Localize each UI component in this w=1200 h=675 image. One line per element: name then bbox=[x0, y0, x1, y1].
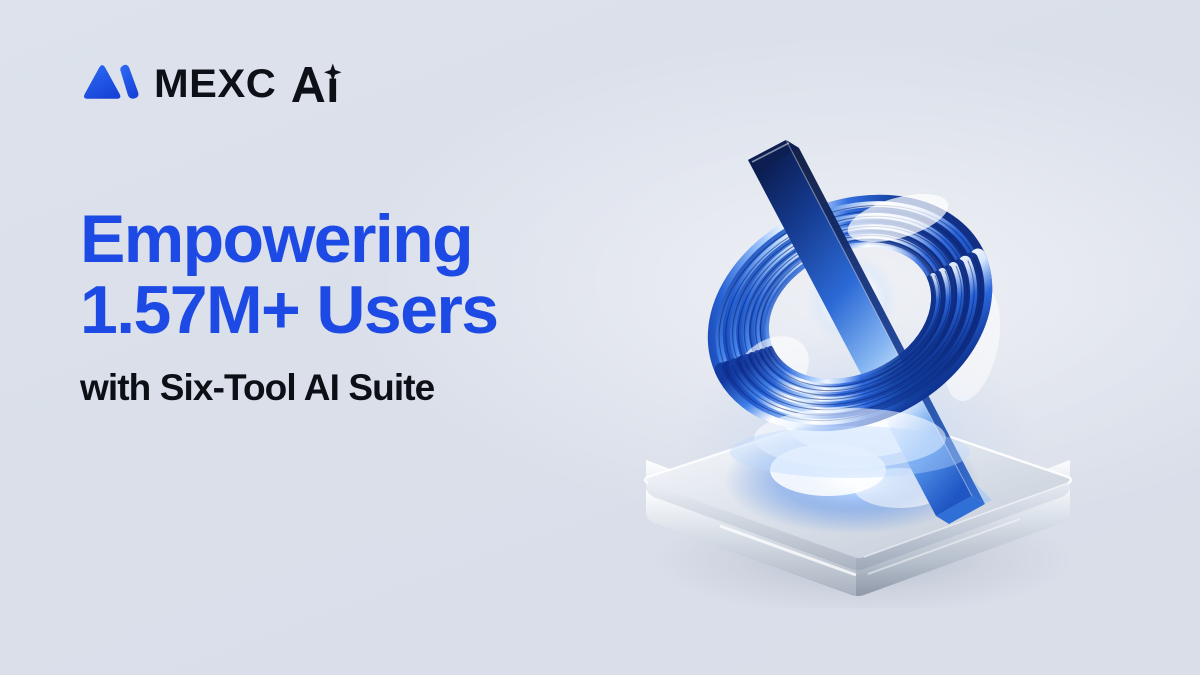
headline-line-1: Empowering bbox=[80, 206, 640, 273]
mexc-wordmark: MEXC bbox=[154, 64, 276, 104]
coiled-ribbon-ring-illustration bbox=[600, 108, 1120, 608]
headline-block: Empowering 1.57M+ Users with Six-Tool AI… bbox=[80, 206, 640, 407]
mexc-triangle-mark-icon bbox=[78, 62, 140, 106]
sparkle-icon bbox=[324, 64, 342, 82]
ai-wordmark bbox=[289, 63, 345, 105]
ai-lettering-icon bbox=[289, 63, 345, 105]
hero-artwork bbox=[600, 108, 1120, 608]
subheadline: with Six-Tool AI Suite bbox=[80, 369, 640, 408]
mexc-ai-promo-banner: MEXC Empowering 1.57M+ Users with Six-To… bbox=[0, 0, 1200, 675]
brand-wordmark-group: MEXC bbox=[154, 63, 345, 105]
headline-line-2: 1.57M+ Users bbox=[80, 277, 640, 344]
brand-logo-lockup[interactable]: MEXC bbox=[78, 62, 345, 106]
